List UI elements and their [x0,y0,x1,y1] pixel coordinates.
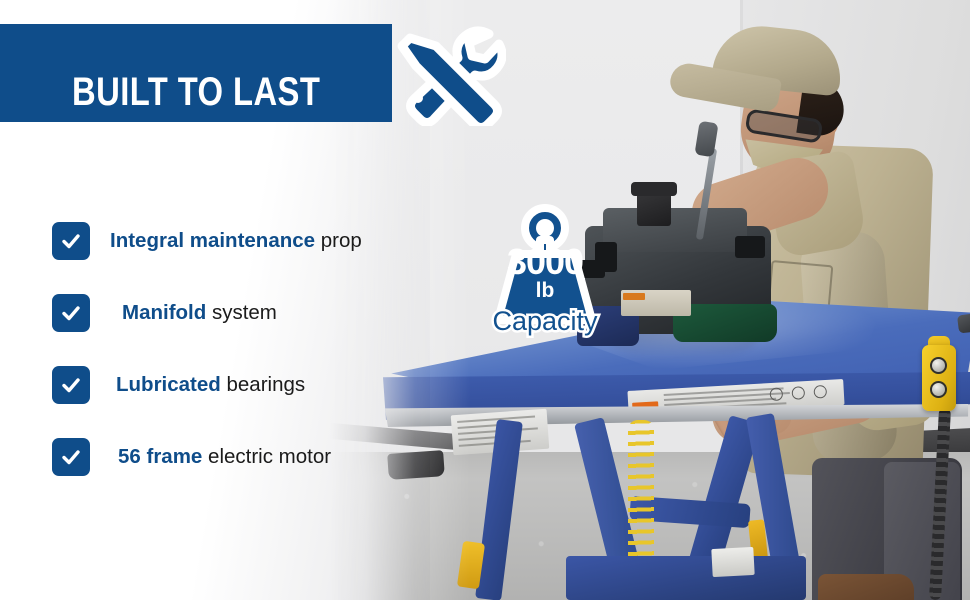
work-boot [818,574,914,600]
page-title: BUILT TO LAST [72,72,320,112]
pendant-down-button[interactable] [930,381,947,398]
crossed-tools-icon [388,22,506,126]
feature-rest: bearings [221,373,305,396]
motor-detail [735,236,765,258]
motor-top-housing [603,208,747,252]
feature-item-3[interactable]: 56 frame electric motor [52,421,452,493]
lift-base-frame [566,556,806,600]
feature-item-0[interactable]: Integral maintenance prop [52,205,452,277]
capacity-label: Capacity [470,308,620,335]
check-icon [52,222,90,260]
base-label [711,547,754,577]
feature-label: Integral maintenance prop [110,229,362,253]
feature-item-1[interactable]: Manifold system [52,277,452,349]
feature-highlight: Integral maintenance [110,229,315,252]
warning-symbol [791,386,805,400]
pendant-up-button[interactable] [930,357,947,374]
feature-item-2[interactable]: Lubricated bearings [52,349,452,421]
capacity-unit: lb [470,280,620,301]
feature-highlight: Lubricated [116,373,221,396]
motor-knob-cap [631,182,677,196]
feature-rest: prop [315,229,362,252]
feature-highlight: 56 frame [118,445,202,468]
headline-banner: BUILT TO LAST [0,24,392,122]
feature-rest: system [206,301,277,324]
feature-rest: electric motor [202,445,331,468]
feature-label: Lubricated bearings [116,373,305,397]
check-icon [52,294,90,332]
feature-label: 56 frame electric motor [118,445,331,469]
capacity-badge: 3000 lb Capacity [470,196,620,356]
promo-banner-image: BUILT TO LAST Integral maintenance prop … [0,0,970,600]
feature-list: Integral maintenance prop Manifold syste… [52,205,452,493]
feature-label: Manifold system [122,301,277,325]
capacity-value: 3000 [470,244,620,280]
pendant-control[interactable] [922,345,956,411]
check-icon [52,366,90,404]
feature-highlight: Manifold [122,301,206,324]
warning-symbol [770,387,784,401]
motor-label-accent [623,293,645,300]
check-icon [52,438,90,476]
warning-symbol [813,385,827,399]
pliers-jaw [957,312,970,333]
